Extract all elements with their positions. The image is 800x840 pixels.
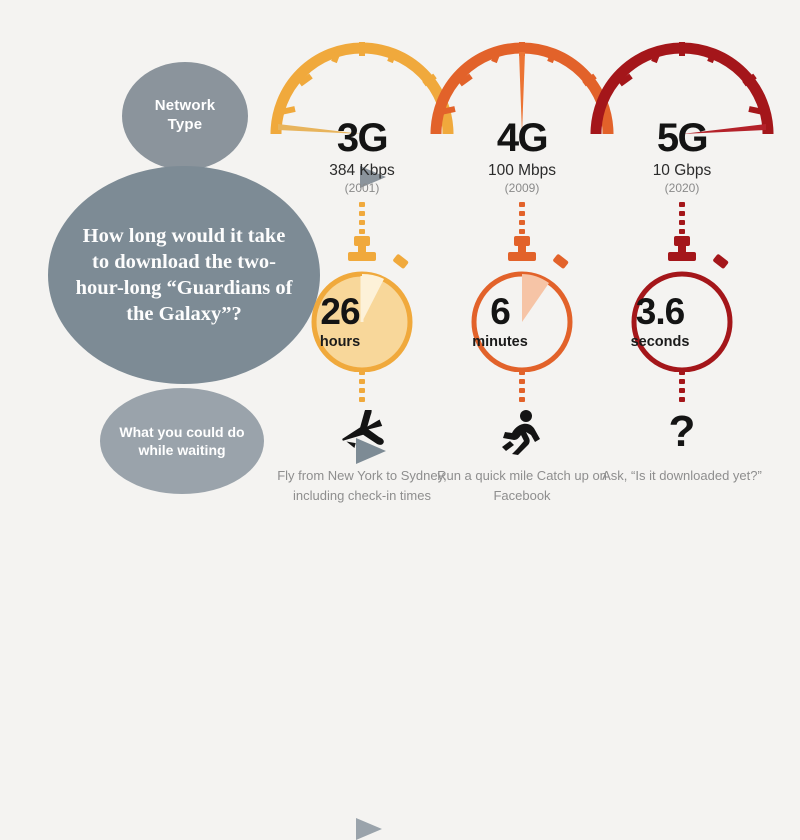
callout-network-type-label: Network Type xyxy=(155,97,216,135)
stopwatch-3g xyxy=(284,236,440,372)
runner-icon xyxy=(499,408,545,456)
stopwatch-4g xyxy=(444,236,600,372)
network-name-5g: 5G xyxy=(582,118,782,158)
airplane-icon xyxy=(338,410,386,454)
network-speed-5g: 10 Gbps xyxy=(582,163,782,179)
activity-caption-5g: Ask, “Is it downloaded yet?” xyxy=(582,466,782,486)
activity-icon-5g: ? xyxy=(582,404,782,460)
callout-waiting-tail xyxy=(356,818,382,840)
network-year-5g: (2020) xyxy=(582,182,782,194)
callout-what-you-could-do: What you could do while waiting xyxy=(100,388,264,494)
callout-waiting-label: What you could do while waiting xyxy=(100,423,264,459)
question-mark-icon: ? xyxy=(669,410,696,454)
stopwatch-5g xyxy=(604,236,760,372)
infographic-canvas: Network Type How long would it take to d… xyxy=(0,0,800,561)
callout-network-type: Network Type xyxy=(122,62,248,170)
column-5g: 5G 10 Gbps (2020) 3.6 seconds xyxy=(582,0,782,561)
